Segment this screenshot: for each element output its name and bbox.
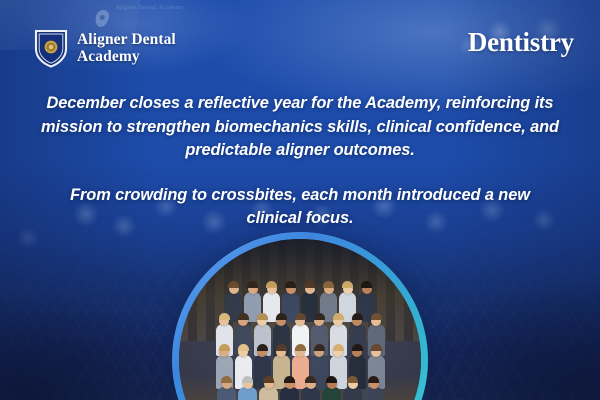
photo-shading <box>179 239 421 400</box>
academy-logo-line-2: Academy <box>77 48 176 65</box>
poster-copy: December closes a reflective year for th… <box>30 92 570 231</box>
paragraph-1: December closes a reflective year for th… <box>30 92 570 163</box>
paragraph-2: From crowding to crossbites, each month … <box>30 184 570 231</box>
crowd-illustration <box>179 239 421 400</box>
watermark-label: Aligner Dental Academy <box>115 4 186 12</box>
academy-logo-text: Aligner Dental Academy <box>77 31 176 65</box>
group-photo-image <box>179 239 421 400</box>
shield-emblem-icon <box>34 28 68 68</box>
poster-canvas: Aligner Dental Academy Aligner Dental Ac… <box>0 0 600 400</box>
academy-logo: Aligner Dental Academy <box>34 28 176 68</box>
dentistry-wordmark: Dentistry <box>468 27 574 57</box>
academy-logo-line-1: Aligner Dental <box>77 31 176 48</box>
group-photo-circle <box>172 232 428 400</box>
location-pin-icon <box>94 10 110 27</box>
